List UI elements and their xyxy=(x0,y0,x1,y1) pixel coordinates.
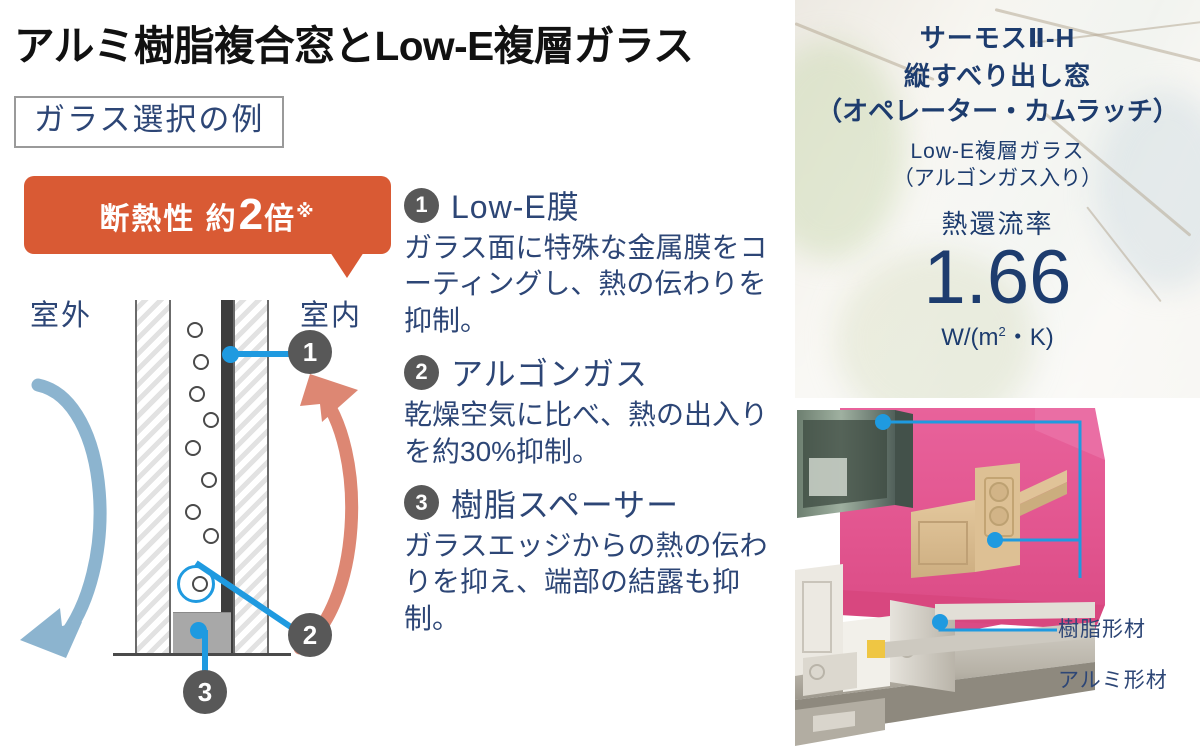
feature-item-3: 3 樹脂スペーサー ガラスエッジからの熱の伝わりを抑え、端部の結露も抑制。 xyxy=(404,480,792,637)
diagram-marker-2: 2 xyxy=(288,613,332,657)
u-value-unit-superscript: 2 xyxy=(999,324,1006,339)
thermal-performance-badge: 断熱性 約 2 倍 ※ xyxy=(24,176,391,254)
badge-reference-mark: ※ xyxy=(296,201,316,222)
feature-body-1: ガラス面に特殊な金属膜をコーティングし、熱の伝わりを抑制。 xyxy=(404,230,792,339)
feature-body-3: ガラスエッジからの熱の伝わりを抑え、端部の結露も抑制。 xyxy=(404,528,792,637)
page-title: アルミ樹脂複合窓とLow‐E複層ガラス xyxy=(14,12,776,72)
diagram-marker-1: 1 xyxy=(288,330,332,374)
product-glass-type: Low-E複層ガラス xyxy=(910,138,1084,165)
subtitle-label: ガラス選択の例 xyxy=(34,104,264,137)
left-content-panel: アルミ樹脂複合窓とLow‐E複層ガラス ガラス選択の例 断熱性 約 2 倍 ※ … xyxy=(0,0,795,750)
glass-cross-section-diagram: 室外 室内 1 2 xyxy=(0,270,400,750)
feature-number-3: 3 xyxy=(404,485,439,520)
feature-title-2: アルゴンガス xyxy=(451,349,648,395)
u-value-unit-suffix: ・K) xyxy=(1006,324,1054,351)
feature-item-2: 2 アルゴンガス 乾燥空気に比べ、熱の出入りを約30%抑制。 xyxy=(404,349,792,470)
feature-title-3: 樹脂スペーサー xyxy=(451,480,679,526)
leader-dot-1 xyxy=(222,346,239,363)
aluminum-material-label: アルミ形材 xyxy=(1058,664,1168,694)
feature-header-3: 3 樹脂スペーサー xyxy=(404,480,792,526)
badge-text: 断熱性 約 2 倍 ※ xyxy=(99,190,315,240)
gas-bubble xyxy=(185,504,201,520)
u-value-unit: W/(m2・K) xyxy=(941,317,1054,352)
gas-bubble xyxy=(201,472,217,488)
outer-glass-pane xyxy=(135,300,171,653)
u-value-number: 1.66 xyxy=(924,243,1072,313)
right-content-column: サーモスⅡ-H 縦すべり出し窓 （オペレーター・カムラッチ） Low-E複層ガラ… xyxy=(795,0,1200,750)
gas-bubble xyxy=(203,412,219,428)
badge-suffix: 倍 xyxy=(264,194,296,238)
gas-bubble xyxy=(185,440,201,456)
leader-dot-3 xyxy=(190,622,207,639)
outside-label: 室外 xyxy=(30,292,92,334)
resin-material-label: 樹脂形材 xyxy=(1058,613,1146,643)
feature-item-1: 1 Low-E膜 ガラス面に特殊な金属膜をコーティングし、熱の伝わりを抑制。 xyxy=(404,182,792,339)
feature-body-2: 乾燥空気に比べ、熱の出入りを約30%抑制。 xyxy=(404,397,792,470)
feature-list: 1 Low-E膜 ガラス面に特殊な金属膜をコーティングし、熱の伝わりを抑制。 2… xyxy=(404,182,792,647)
product-type: 縦すべり出し窓 xyxy=(904,60,1091,93)
u-value-unit-prefix: W/(m xyxy=(941,324,998,351)
frame-section-illustration xyxy=(795,400,1200,750)
leader-line-1 xyxy=(230,351,294,357)
window-frame-section-photo: 樹脂形材 アルミ形材 xyxy=(795,400,1200,750)
feature-title-1: Low-E膜 xyxy=(451,182,580,228)
gas-bubble xyxy=(187,322,203,338)
feature-header-1: 1 Low-E膜 xyxy=(404,182,792,228)
feature-header-2: 2 アルゴンガス xyxy=(404,349,792,395)
badge-prefix: 断熱性 約 xyxy=(99,194,237,238)
product-name: サーモスⅡ-H xyxy=(920,22,1076,55)
diagram-marker-3: 3 xyxy=(183,670,227,714)
badge-number: 2 xyxy=(238,190,264,240)
inside-label: 室内 xyxy=(300,292,362,334)
feature-number-2: 2 xyxy=(404,355,439,390)
gas-bubble xyxy=(189,386,205,402)
product-gas-fill: （アルゴンガス入り） xyxy=(893,165,1102,192)
gas-bubble xyxy=(193,354,209,370)
product-spec-card: サーモスⅡ-H 縦すべり出し窓 （オペレーター・カムラッチ） Low-E複層ガラ… xyxy=(795,0,1200,398)
gas-bubble xyxy=(203,528,219,544)
glass-selection-example-box: ガラス選択の例 xyxy=(14,96,284,148)
product-spec-text: サーモスⅡ-H 縦すべり出し窓 （オペレーター・カムラッチ） Low-E複層ガラ… xyxy=(795,0,1200,398)
product-mechanism: （オペレーター・カムラッチ） xyxy=(816,95,1179,128)
feature-number-1: 1 xyxy=(404,188,439,223)
